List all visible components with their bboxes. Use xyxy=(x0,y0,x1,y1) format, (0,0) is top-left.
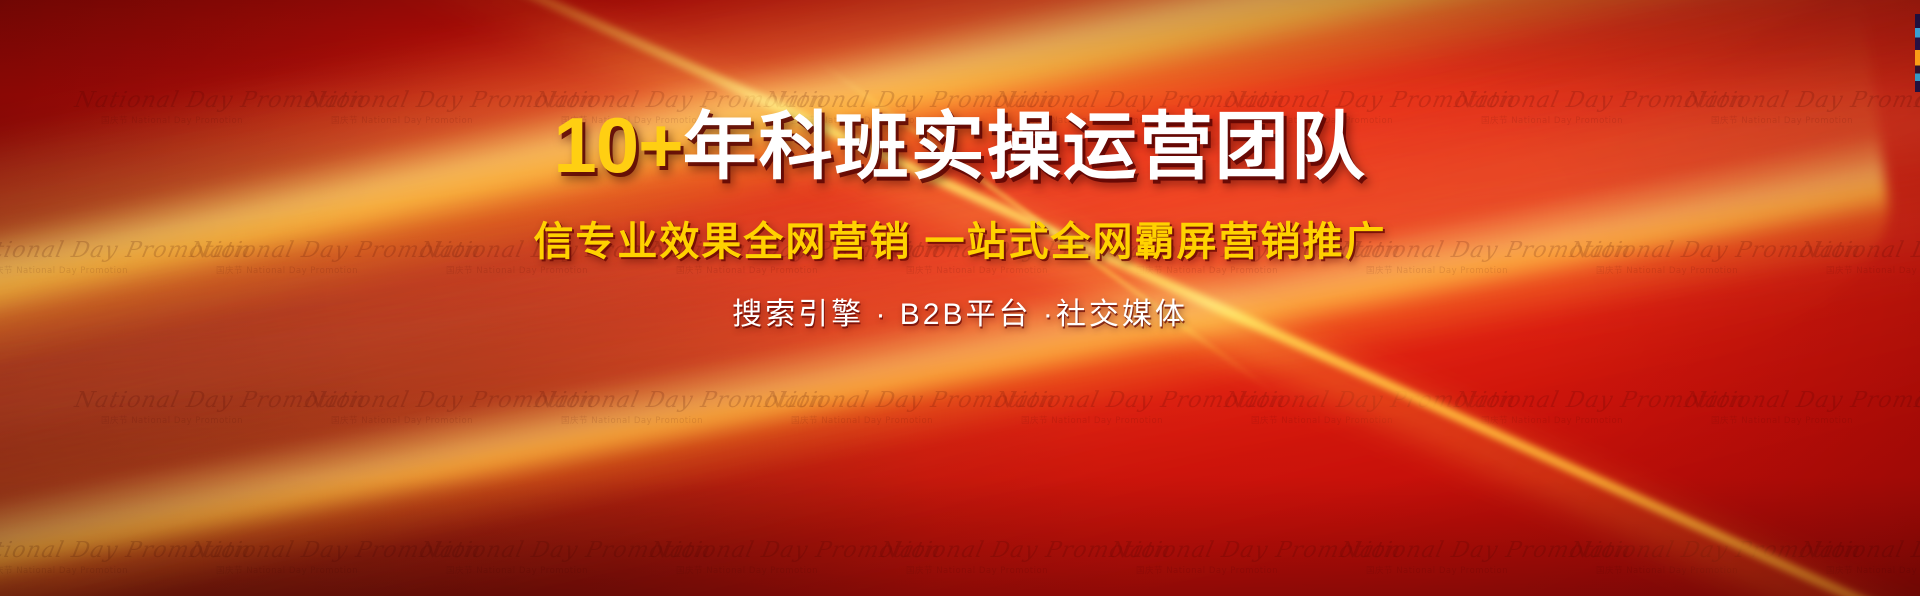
headline-number: 10+ xyxy=(553,101,682,189)
right-edge-artifact xyxy=(1915,14,1920,92)
banner-content: 10+年科班实操运营团队 信专业效果全网营销 一站式全网霸屏营销推广 搜索引擎 … xyxy=(0,0,1920,596)
promotional-banner: National Day Promotion国庆节 National Day P… xyxy=(0,0,1920,596)
headline: 10+年科班实操运营团队 xyxy=(553,104,1366,187)
headline-text: 年科班实操运营团队 xyxy=(683,105,1367,188)
tagline: 搜索引擎 · B2B平台 ·社交媒体 xyxy=(732,289,1188,333)
subtitle: 信专业效果全网营销 一站式全网霸屏营销推广 xyxy=(533,209,1386,267)
